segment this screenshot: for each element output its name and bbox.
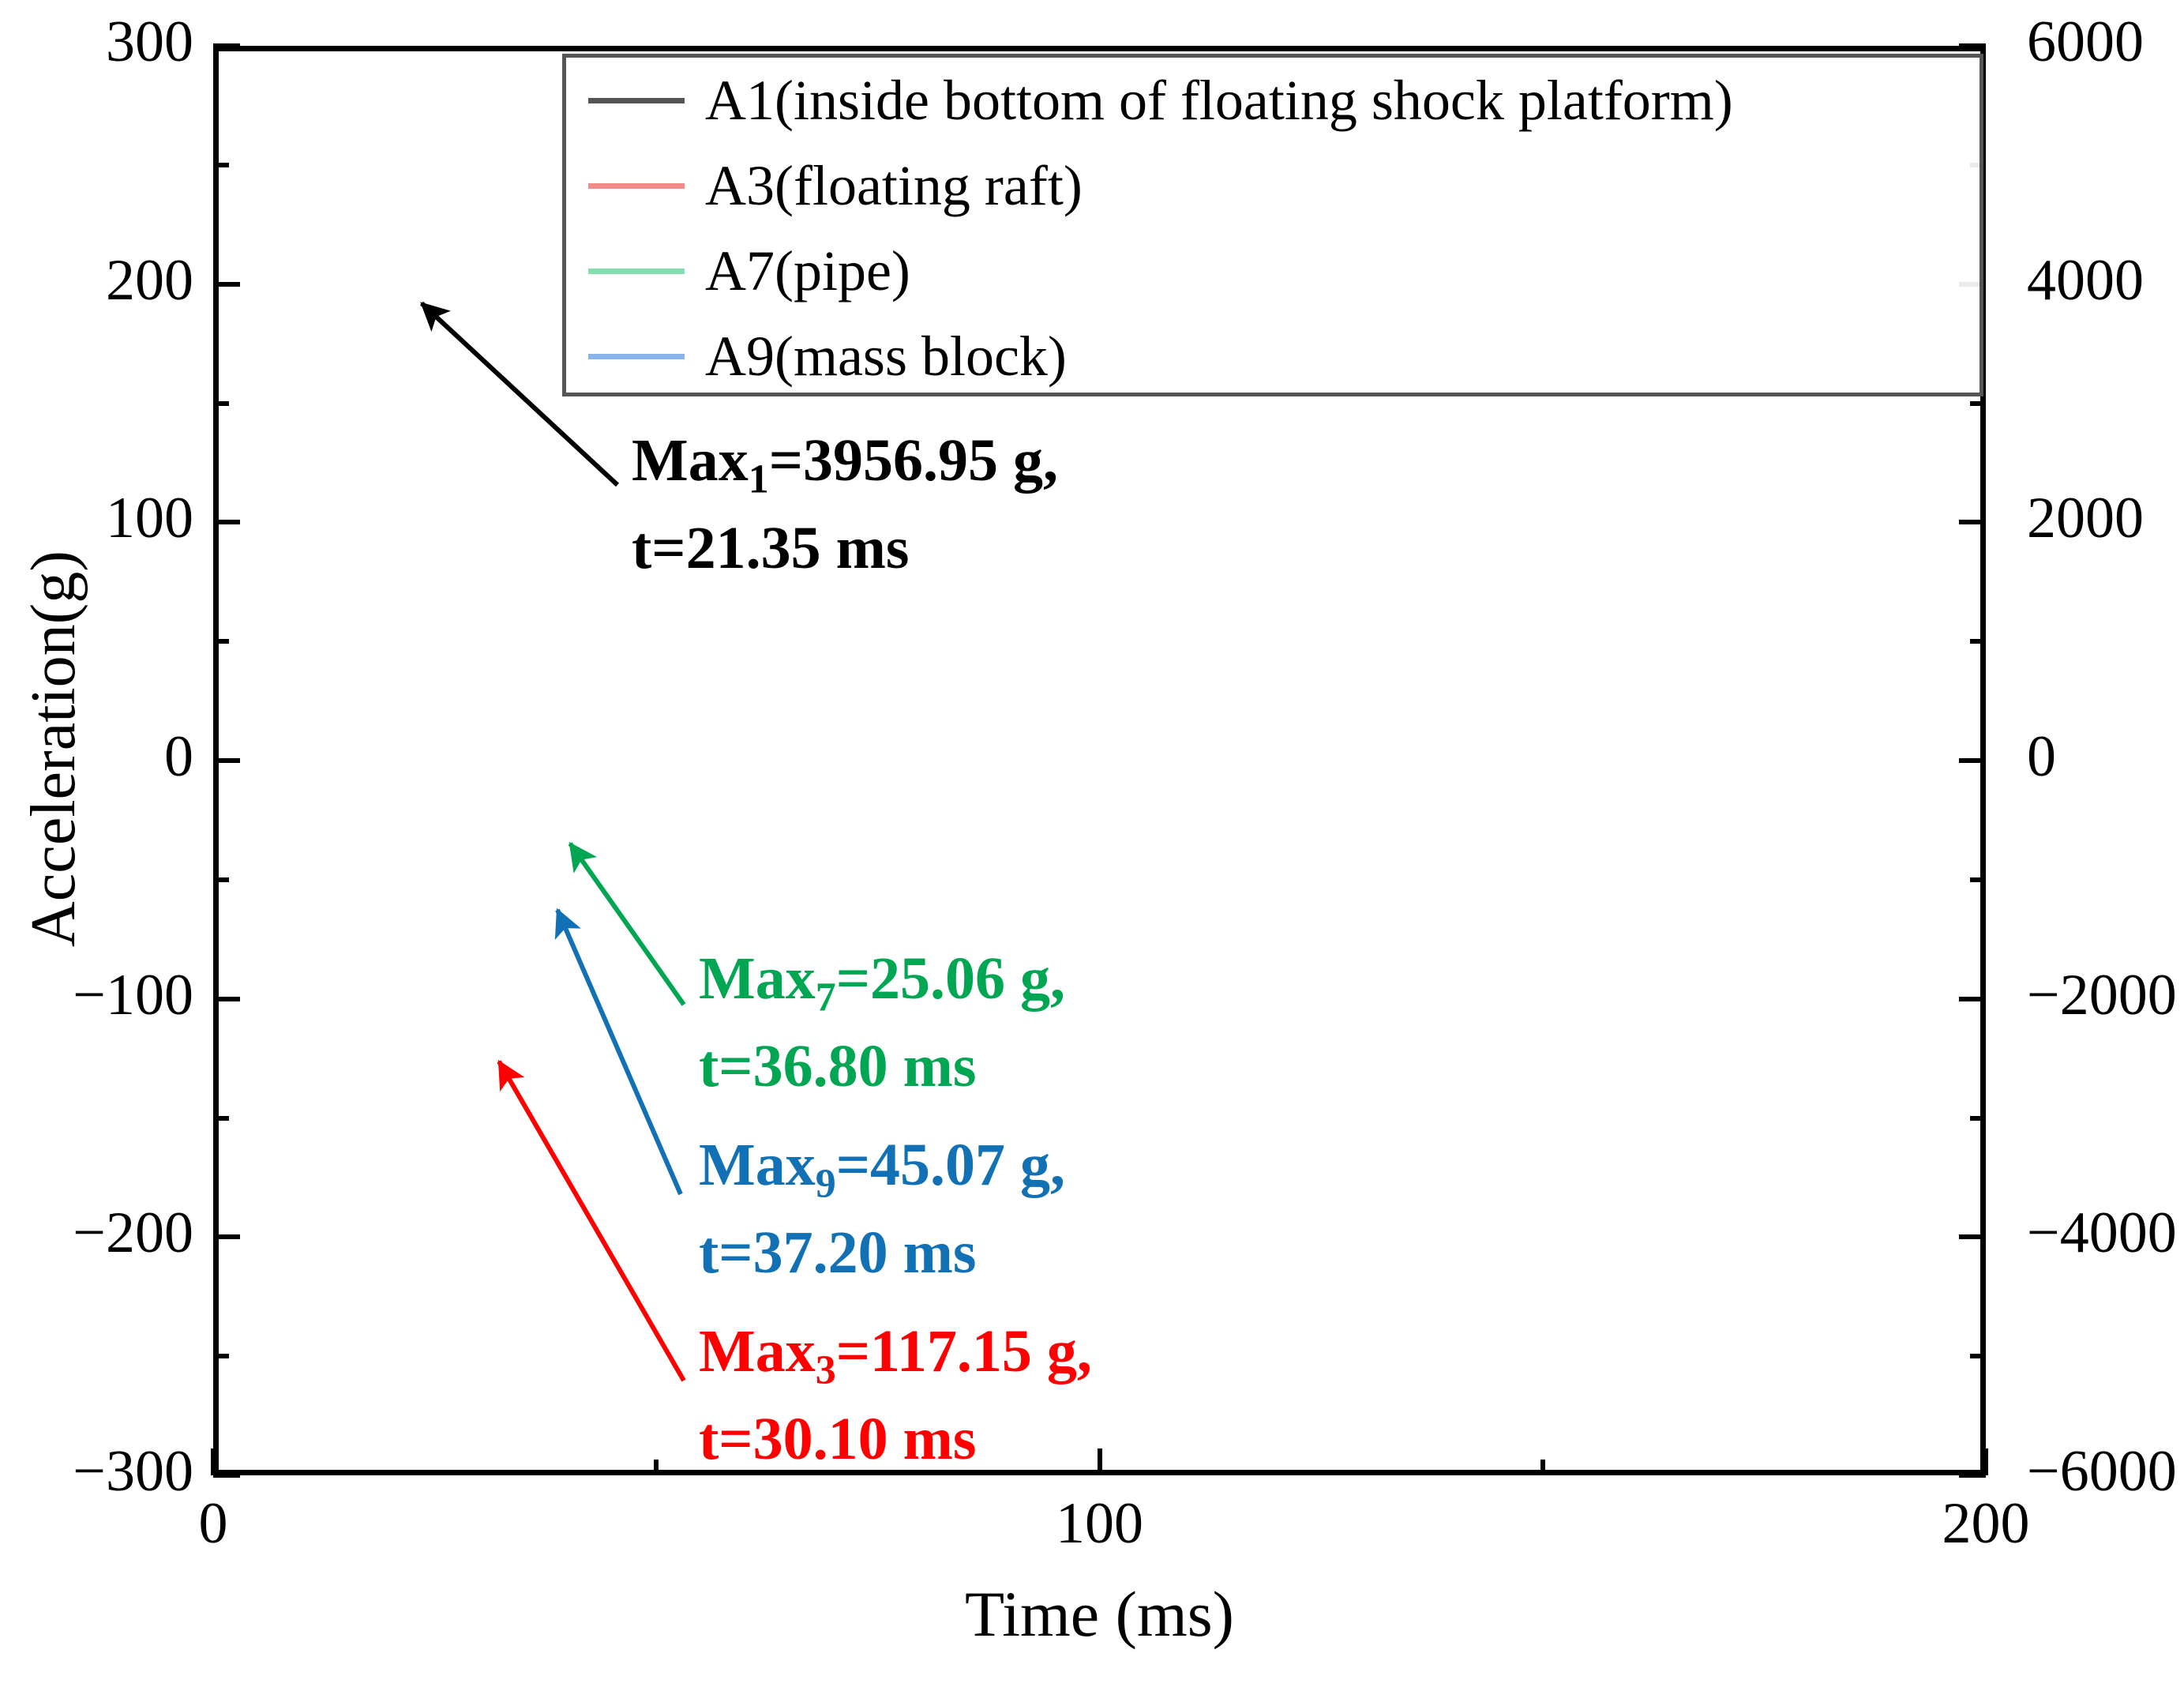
annotation-max1: Max1=3956.95 g, t=21.35 ms	[632, 426, 1058, 582]
y-right-major-tick	[1959, 43, 1986, 48]
y-right-tick-label: 4000	[2027, 251, 2184, 310]
legend-item-a7: A7(pipe)	[566, 228, 910, 314]
y-right-tick-label: 2000	[2027, 489, 2184, 547]
y-right-major-tick	[1959, 1473, 1986, 1478]
annotation-max1-line1: Max1=3956.95 g,	[632, 427, 1058, 494]
legend-swatch-a1	[588, 98, 685, 103]
annotation-max3-line2: t=30.10 ms	[699, 1406, 977, 1472]
y-left-tick-label: −300	[12, 1442, 193, 1501]
annotation-max9: Max9=45.07 g, t=37.20 ms	[699, 1131, 1065, 1287]
y-left-tick-label: 300	[12, 13, 193, 71]
y-left-major-tick	[213, 1473, 240, 1478]
y-left-major-tick	[213, 520, 240, 524]
x-axis-title: Time (ms)	[213, 1580, 1986, 1649]
annotation-max3-line1: Max3=117.15 g,	[699, 1318, 1092, 1385]
y-left-tick-label: 200	[12, 251, 193, 310]
y-right-tick-label: −6000	[2027, 1442, 2184, 1501]
x-tick-label: 200	[1844, 1494, 2128, 1553]
y-left-major-tick	[213, 43, 240, 48]
y-right-major-tick	[1959, 1234, 1986, 1239]
x-minor-tick	[654, 1460, 659, 1475]
annotation-max7: Max7=25.06 g, t=36.80 ms	[699, 945, 1065, 1100]
legend-item-a1: A1(inside bottom of floating shock platf…	[566, 58, 1733, 143]
legend-swatch-a9	[588, 354, 685, 359]
y-left-minor-tick	[213, 877, 229, 882]
legend-item-a3: A3(floating raft)	[566, 143, 1083, 228]
annotation-max3: Max3=117.15 g, t=30.10 ms	[699, 1317, 1092, 1473]
y-left-minor-tick	[213, 1354, 229, 1358]
y-left-major-tick	[213, 997, 240, 1001]
y-left-minor-tick	[213, 639, 229, 644]
y-right-minor-tick	[1970, 1354, 1986, 1358]
y-right-tick-label: 6000	[2027, 13, 2184, 71]
annotation-max7-line1: Max7=25.06 g,	[699, 945, 1065, 1012]
legend-item-a9: A9(mass block)	[566, 314, 1067, 399]
x-major-tick	[1098, 1448, 1102, 1475]
y-right-tick-label: −2000	[2027, 966, 2184, 1024]
y-left-tick-label: −200	[12, 1204, 193, 1262]
legend-label-a9: A9(mass block)	[705, 326, 1067, 386]
y-right-tick-label: −4000	[2027, 1204, 2184, 1262]
legend-label-a1: A1(inside bottom of floating shock platf…	[705, 70, 1733, 130]
y-axis-title: Acceleration(g)	[20, 433, 88, 1065]
x-minor-tick	[1540, 1460, 1545, 1475]
annotation-max9-line1: Max9=45.07 g,	[699, 1132, 1065, 1198]
y-left-major-tick	[213, 758, 240, 763]
y-right-minor-tick	[1970, 401, 1986, 406]
legend-swatch-a7	[588, 269, 685, 274]
y-right-minor-tick	[1970, 1116, 1986, 1121]
legend: A1(inside bottom of floating shock platf…	[562, 54, 1983, 396]
y-right-minor-tick	[1970, 639, 1986, 644]
y-left-minor-tick	[213, 1116, 229, 1121]
y-left-minor-tick	[213, 401, 229, 406]
acceleration-time-history-figure: 3002001000−100−200−3006000400020000−2000…	[0, 0, 2184, 1687]
annotation-max7-line2: t=36.80 ms	[699, 1033, 977, 1099]
y-left-minor-tick	[213, 163, 229, 167]
y-right-major-tick	[1959, 758, 1986, 763]
annotation-max1-line2: t=21.35 ms	[632, 515, 910, 581]
y-right-major-tick	[1959, 520, 1986, 524]
y-right-major-tick	[1959, 997, 1986, 1001]
y-left-major-tick	[213, 282, 240, 287]
y-right-tick-label: 0	[2027, 727, 2184, 786]
legend-swatch-a3	[588, 183, 685, 189]
annotation-max9-line2: t=37.20 ms	[699, 1219, 977, 1286]
x-major-tick	[1983, 1448, 1988, 1475]
y-left-major-tick	[213, 1234, 240, 1239]
x-major-tick	[211, 1448, 216, 1475]
x-tick-label: 0	[71, 1494, 355, 1553]
y-right-minor-tick	[1970, 877, 1986, 882]
legend-label-a3: A3(floating raft)	[705, 156, 1083, 216]
x-tick-label: 100	[958, 1494, 1242, 1553]
legend-label-a7: A7(pipe)	[705, 241, 910, 301]
